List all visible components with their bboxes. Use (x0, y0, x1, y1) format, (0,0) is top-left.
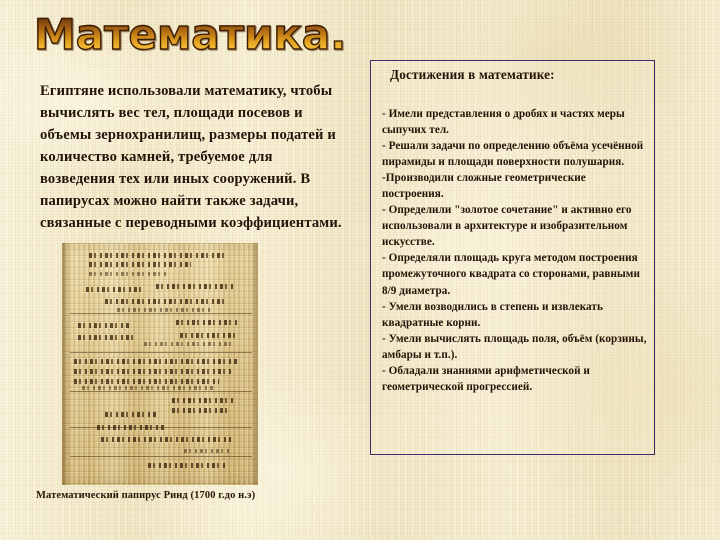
achievement-item: - Умели вычислять площадь поля, объём (к… (382, 331, 648, 363)
slide-title-container: Математика. (34, 10, 474, 66)
achievement-item: - Определяли площадь круга методом постр… (382, 250, 648, 298)
achievement-item: -Производили сложные геометрические пост… (382, 170, 648, 202)
papyrus-image (62, 243, 258, 485)
achievement-item: - Определили "золотое сочетание" и актив… (382, 202, 648, 250)
achievement-item: - Обладали знаниями арифметической и гео… (382, 363, 648, 395)
achievement-item: - Решали задачи по определению объёма ус… (382, 138, 648, 170)
achievements-list: - Имели представления о дробях и частях … (382, 106, 648, 395)
intro-paragraph: Египтяне использовали математику, чтобы … (40, 80, 348, 234)
papyrus-caption: Математический папирус Ринд (1700 г.до н… (36, 489, 366, 503)
achievement-item: - Имели представления о дробях и частях … (382, 106, 648, 138)
presentation-slide: Математика. Египтяне использовали матема… (0, 0, 720, 540)
papyrus-figure (62, 243, 258, 485)
slide-title: Математика. (34, 10, 474, 60)
achievements-heading: Достижения в математике: (390, 66, 650, 83)
achievement-item: - Умели возводились в степень и извлекат… (382, 299, 648, 331)
